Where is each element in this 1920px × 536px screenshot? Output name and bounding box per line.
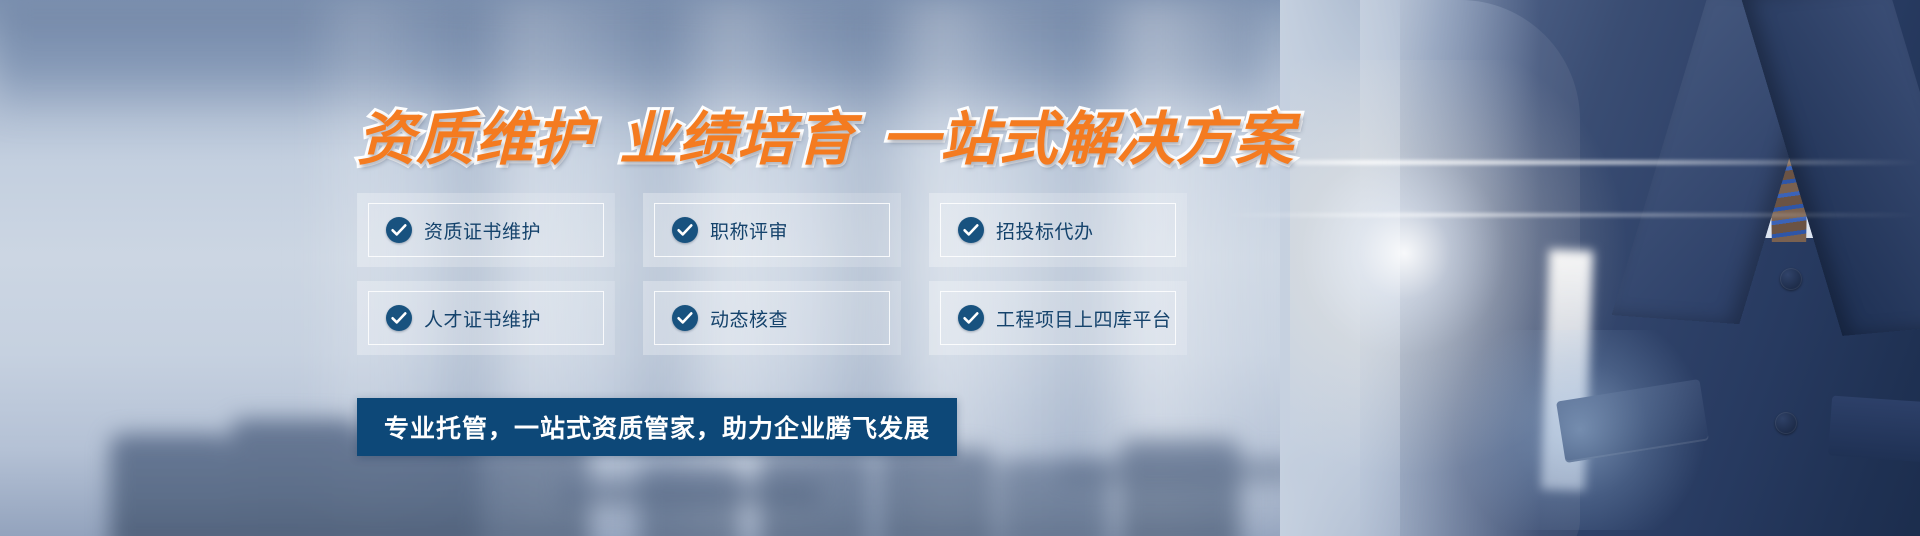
feature-card[interactable]: 招投标代办 <box>929 193 1187 267</box>
feature-card-label: 招投标代办 <box>996 217 1094 244</box>
feature-card-label: 工程项目上四库平台 <box>996 305 1172 332</box>
check-circle-icon <box>958 217 984 243</box>
feature-card[interactable]: 人才证书维护 <box>357 281 615 355</box>
tagline-bar: 专业托管，一站式资质管家，助力企业腾飞发展 <box>357 398 957 456</box>
check-circle-icon <box>672 305 698 331</box>
feature-card[interactable]: 职称评审 <box>643 193 901 267</box>
jacket-button-upper <box>1780 268 1802 290</box>
banner-content: 资质维护业绩培育一站式解决方案 资质证书维护 职称评审 <box>0 0 1330 536</box>
check-circle-icon <box>386 217 412 243</box>
tagline-text: 专业托管，一站式资质管家，助力企业腾飞发展 <box>384 409 930 445</box>
feature-card-label: 动态核查 <box>710 305 788 332</box>
feature-card[interactable]: 资质证书维护 <box>357 193 615 267</box>
feature-card[interactable]: 动态核查 <box>643 281 901 355</box>
feature-card-grid: 资质证书维护 职称评审 招投标代办 <box>357 193 1187 355</box>
headline-part-1: 资质维护 <box>357 107 593 172</box>
feature-card-label: 职称评审 <box>710 217 788 244</box>
headline: 资质维护业绩培育一站式解决方案 <box>357 92 1294 176</box>
feature-card[interactable]: 工程项目上四库平台 <box>929 281 1187 355</box>
check-circle-icon <box>958 305 984 331</box>
hero-banner: 资质维护业绩培育一站式解决方案 资质证书维护 职称评审 <box>0 0 1920 536</box>
jacket-pocket-right <box>1828 396 1920 465</box>
check-circle-icon <box>386 305 412 331</box>
check-circle-icon <box>672 217 698 243</box>
headline-part-3: 一站式解决方案 <box>881 107 1294 172</box>
jacket-button-lower <box>1775 412 1797 434</box>
lens-flare-secondary <box>1430 330 1730 530</box>
feature-card-label: 人才证书维护 <box>424 305 541 332</box>
feature-card-label: 资质证书维护 <box>424 217 541 244</box>
headline-part-2: 业绩培育 <box>619 107 855 172</box>
